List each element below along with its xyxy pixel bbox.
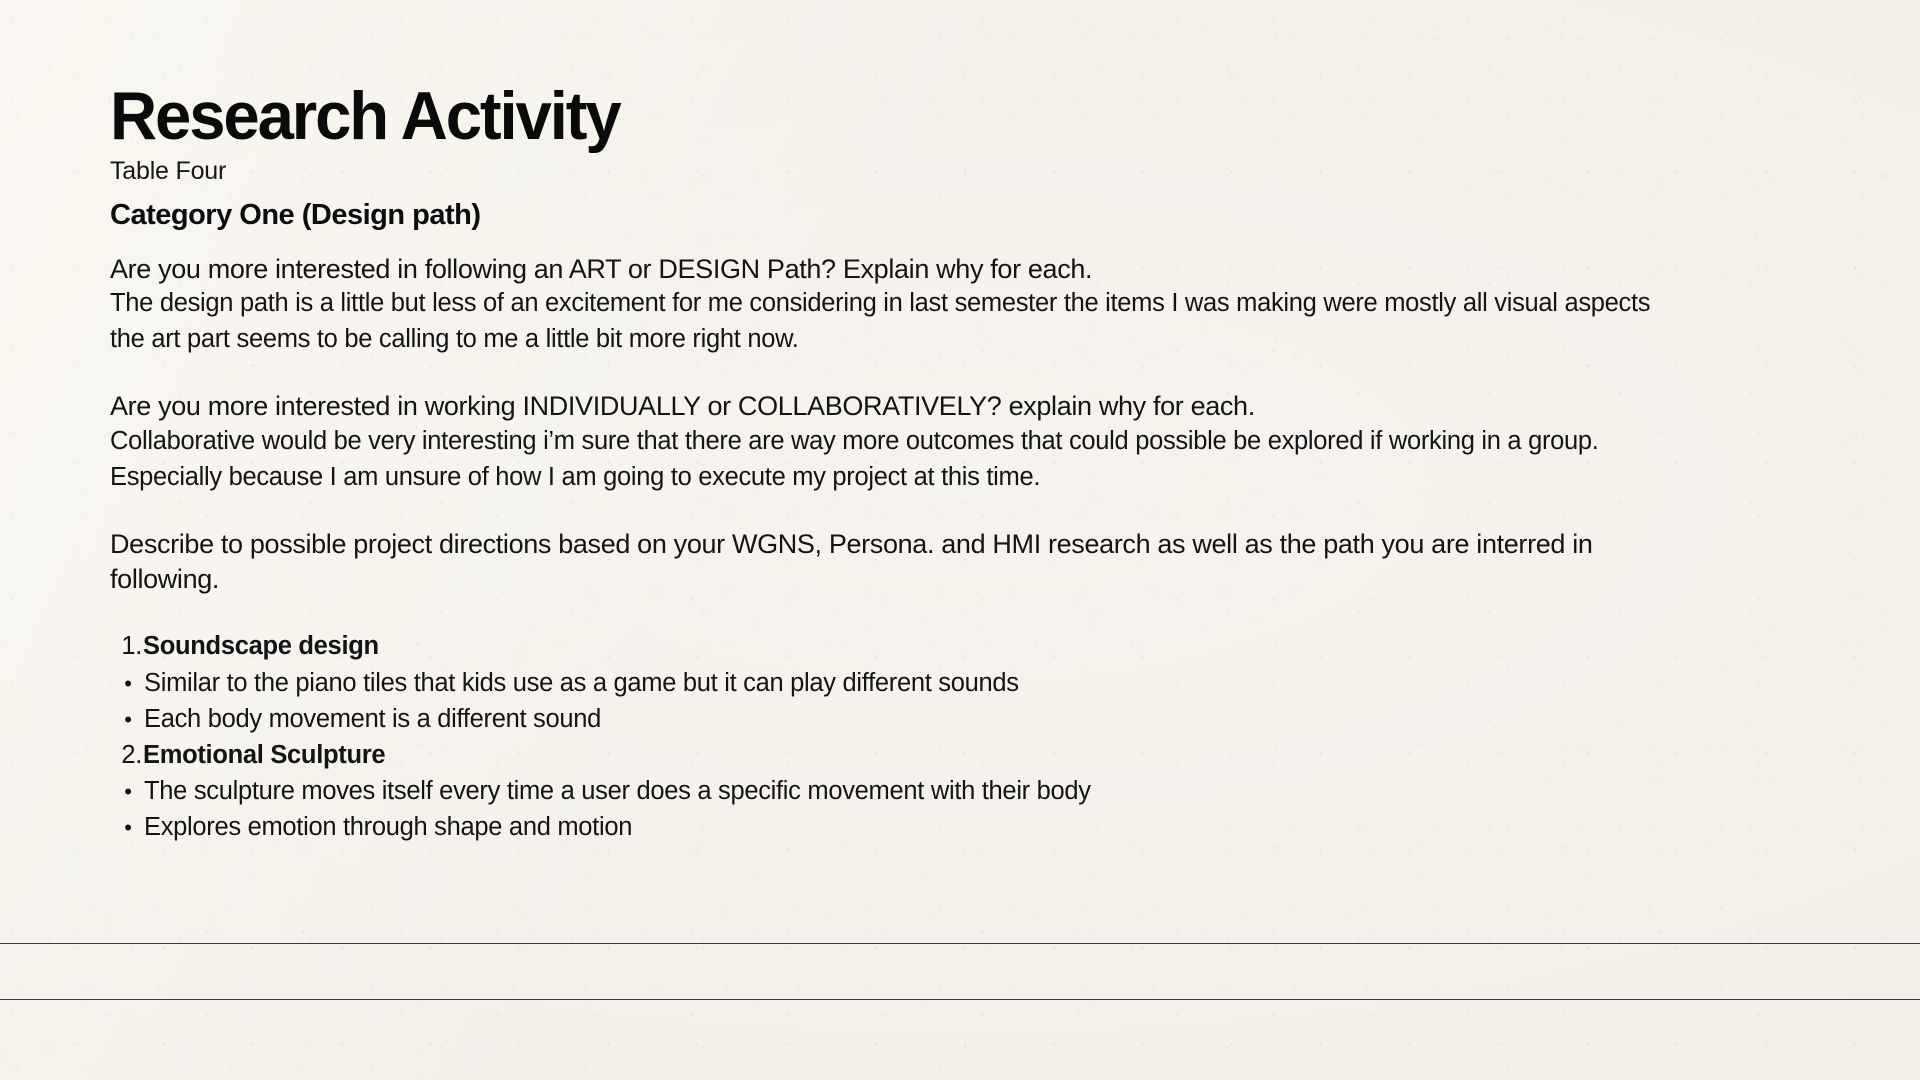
- list-item-label: Each body movement is a different sound: [144, 703, 601, 735]
- list-item-bullet: •Similar to the piano tiles that kids us…: [110, 665, 1810, 701]
- section-heading: Category One (Design path): [110, 197, 1810, 233]
- bullet-icon: •: [112, 817, 144, 839]
- list-item-bullet: •Each body movement is a different sound: [110, 701, 1810, 737]
- list-item-label: Emotional Sculpture: [143, 739, 385, 771]
- qa-block-art-or-design: Are you more interested in following an …: [110, 252, 1810, 358]
- bullet-icon: •: [112, 673, 144, 695]
- slide-page: Research Activity Table Four Category On…: [0, 0, 1920, 1080]
- page-subtitle: Table Four: [110, 156, 1810, 187]
- list-item-numbered: 1.Soundscape design: [110, 628, 1810, 664]
- question-text: Are you more interested in working INDIV…: [110, 389, 1810, 424]
- list-item-bullet: •Explores emotion through shape and moti…: [110, 809, 1810, 845]
- qa-block-individual-or-collaborative: Are you more interested in working INDIV…: [110, 389, 1810, 495]
- page-title: Research Activity: [110, 82, 1742, 150]
- horizontal-rule-bottom: [0, 999, 1920, 1000]
- question-text: Describe to possible project directions …: [110, 527, 1670, 596]
- project-directions-list: 1.Soundscape design•Similar to the piano…: [110, 628, 1810, 845]
- qa-block-project-directions: Describe to possible project directions …: [110, 527, 1810, 596]
- bullet-icon: •: [112, 709, 144, 731]
- footer-band: [0, 944, 1920, 999]
- list-item-label: Explores emotion through shape and motio…: [144, 811, 632, 843]
- list-item-label: Similar to the piano tiles that kids use…: [144, 667, 1019, 699]
- horizontal-rule-top: [0, 943, 1920, 944]
- list-item-numbered: 2.Emotional Sculpture: [110, 737, 1810, 773]
- bullet-icon: •: [112, 781, 144, 803]
- list-number-marker: 2.: [110, 739, 143, 771]
- answer-text: Collaborative would be very interesting …: [110, 424, 1670, 495]
- list-item-label: The sculpture moves itself every time a …: [144, 775, 1091, 807]
- list-item-bullet: •The sculpture moves itself every time a…: [110, 773, 1810, 809]
- list-item-label: Soundscape design: [143, 630, 379, 662]
- slide-content: Research Activity Table Four Category On…: [110, 82, 1810, 845]
- answer-text: The design path is a little but less of …: [110, 286, 1670, 357]
- list-number-marker: 1.: [110, 630, 143, 662]
- question-text: Are you more interested in following an …: [110, 252, 1810, 287]
